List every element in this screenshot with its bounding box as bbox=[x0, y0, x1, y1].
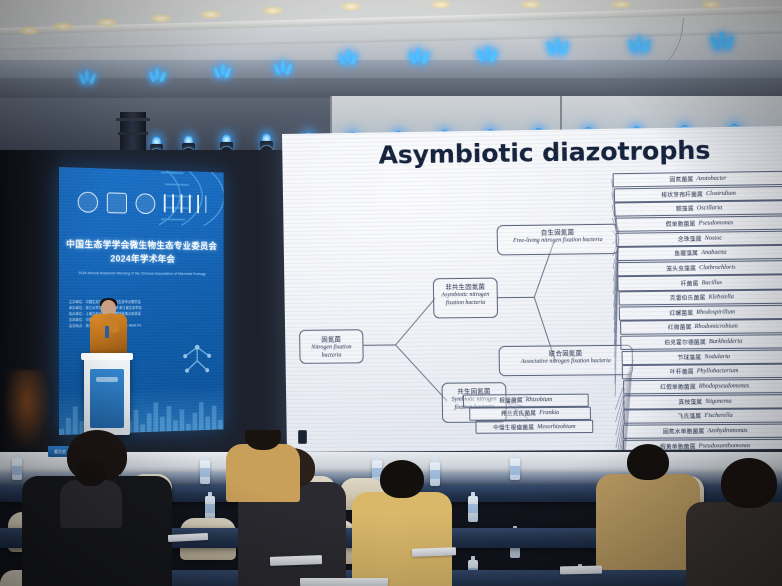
lectern-top bbox=[81, 353, 133, 360]
presentation-screen: Asymbiotic diazotrophs 固氮菌 Nitrogen fixa… bbox=[282, 126, 782, 452]
slide-title: Asymbiotic diazotrophs bbox=[378, 135, 710, 169]
genus-item: 红螺菌属Rhodospirillum bbox=[619, 305, 782, 321]
genus-cn: 伯克霍尔德菌属 bbox=[664, 338, 706, 346]
genus-cn: 弗兰克氏菌属 bbox=[501, 410, 536, 418]
genus-latin: Pseudomonas bbox=[699, 220, 734, 227]
ceiling-downlight bbox=[610, 0, 632, 9]
logo-university-wordmark bbox=[164, 194, 207, 213]
skyline-building bbox=[167, 406, 172, 431]
ceiling-downlight bbox=[520, 0, 542, 9]
ceiling-downlight bbox=[52, 22, 74, 31]
banner-subtitle-english: 2024 Annual Academic Meeting of the Chin… bbox=[65, 271, 218, 277]
genus-cn: 固氮菌属 bbox=[670, 175, 694, 183]
genus-cn: 红假单胞菌属 bbox=[660, 383, 696, 391]
genus-latin: Nodularia bbox=[704, 354, 730, 360]
handout-paper bbox=[560, 566, 602, 575]
genus-cn: 假单胞菌属 bbox=[666, 220, 696, 228]
genus-item: 梭状芽孢杆菌属Clostridium bbox=[614, 186, 782, 203]
genus-cn: 飞氏藻属 bbox=[678, 412, 702, 420]
lectern-podium bbox=[84, 353, 130, 435]
water-bottle bbox=[510, 458, 520, 480]
genus-list: 固氮菌属Azotobacter梭状芽孢杆菌属Clostridium颤藻属Osci… bbox=[612, 171, 782, 452]
molecule-graphic bbox=[176, 341, 218, 380]
genus-item: 红微菌属Rhodomicrobium bbox=[620, 319, 782, 335]
genus-item: 杆菌属Bacillus bbox=[618, 275, 782, 291]
genus-item: 红假单胞菌属Rhodopseudomonas bbox=[623, 379, 782, 395]
genus-item: 真枝藻属Stigonema bbox=[623, 394, 782, 409]
genus-latin: Rhodomicrobium bbox=[695, 324, 738, 330]
handout-paper bbox=[412, 547, 456, 557]
genus-item: 叶杆菌属Phyllobacterium bbox=[622, 364, 782, 380]
genus-cn: 克雷伯氏菌属 bbox=[670, 294, 706, 302]
genus-latin: Klebsiella bbox=[708, 294, 733, 300]
genus-item: 飞氏藻属Fischerella bbox=[623, 409, 782, 424]
node-asymbiotic-en: Asymbiotic nitrogen fixation bacteria bbox=[439, 292, 492, 308]
genus-latin: Clostridium bbox=[706, 190, 736, 196]
skyline-building bbox=[180, 409, 185, 430]
ceiling-downlight bbox=[150, 14, 172, 23]
smartphone[interactable] bbox=[298, 430, 307, 444]
genus-item: 笼头虫藻属Clathrochloris bbox=[617, 260, 782, 276]
logo-emblem-1 bbox=[78, 192, 98, 213]
person-head bbox=[721, 458, 777, 508]
person-torso bbox=[60, 480, 122, 528]
genus-item: 克雷伯氏菌属Klebsiella bbox=[618, 290, 782, 306]
genus-item: 伯克霍尔德菌属Burkholderia bbox=[620, 334, 782, 350]
person-head bbox=[76, 460, 106, 486]
genus-item: 鱼腥藻属Anabaena bbox=[616, 245, 782, 261]
node-free-living: 自生固氮菌 Free-living nitrogen fixation bact… bbox=[497, 224, 619, 256]
genus-latin: Frankia bbox=[539, 410, 559, 416]
genus-item: 念珠藻属Nostoc bbox=[616, 230, 782, 246]
person-torso bbox=[226, 444, 300, 502]
banner-title: 中国生态学学会微生物生态专业委员会 2024年学术年会 bbox=[65, 237, 218, 266]
genus-item: 颤藻属Oscillaria bbox=[614, 201, 782, 217]
genus-latin: Clathrochloris bbox=[699, 265, 736, 272]
person-head bbox=[380, 460, 424, 498]
genus-cn: 梭状芽孢杆菌属 bbox=[661, 190, 703, 199]
dna-helix-graphic bbox=[150, 167, 224, 249]
symbiotic-genus-item: 弗兰克氏菌属Frankia bbox=[469, 407, 591, 421]
water-bottle bbox=[12, 458, 22, 480]
genus-latin: Burkholderia bbox=[709, 339, 742, 345]
skyline-building bbox=[205, 416, 210, 430]
skyline-building bbox=[212, 406, 217, 430]
person-torso bbox=[596, 474, 700, 570]
handout-paper bbox=[270, 555, 322, 566]
handout-paper bbox=[300, 578, 388, 586]
ceiling-downlight bbox=[340, 2, 362, 11]
organization-logos bbox=[59, 191, 224, 216]
genus-cn: 根瘤菌属 bbox=[499, 396, 523, 404]
genus-latin: Anabaena bbox=[701, 250, 726, 256]
genus-latin: Nostoc bbox=[705, 235, 722, 241]
bottle-label bbox=[430, 470, 440, 479]
genus-cn: 杆菌属 bbox=[681, 279, 699, 287]
genus-latin: Fischerella bbox=[704, 413, 732, 419]
node-root-en: Nitrogen fixation bacteria bbox=[305, 344, 357, 360]
ceiling-downlight bbox=[700, 0, 722, 9]
genus-cn: 念珠藻属 bbox=[678, 234, 702, 242]
genus-latin: Phyllobacterium bbox=[697, 368, 739, 374]
node-root: 固氮菌 Nitrogen fixation bacteria bbox=[299, 329, 364, 364]
genus-cn: 红微菌属 bbox=[668, 323, 692, 331]
skyline-building bbox=[153, 402, 158, 431]
symbiotic-genus-list: 根瘤菌属Rhizobium弗兰克氏菌属Frankia中慢生根瘤菌属Mesorhi… bbox=[463, 394, 593, 435]
skyline-building bbox=[193, 413, 198, 431]
logo-emblem-2 bbox=[107, 192, 127, 213]
genus-latin: Azotobacter bbox=[696, 176, 726, 183]
genus-cn: 笼头虫藻属 bbox=[666, 264, 696, 272]
genus-item: 节球藻属Nodularia bbox=[621, 349, 782, 365]
node-associative: 联合固氮菌 Associative nitrogen fixation bact… bbox=[499, 345, 634, 376]
person-head bbox=[627, 444, 669, 480]
ceiling-downlight bbox=[200, 10, 222, 19]
speaker-presenter bbox=[88, 300, 128, 358]
genus-latin: Rhodospirillum bbox=[696, 309, 735, 315]
bottle-label bbox=[205, 504, 215, 513]
genus-cn: 叶杆菌属 bbox=[670, 368, 694, 376]
genus-cn: 颤藻属 bbox=[676, 205, 694, 213]
genus-item: 固氮菌属Azotobacter bbox=[613, 171, 782, 188]
bottle-label bbox=[200, 468, 210, 477]
bottle-label bbox=[12, 466, 22, 475]
ceiling-downlight bbox=[262, 6, 284, 15]
genus-item: 假单胞菌属Pseudomonas bbox=[615, 215, 782, 231]
logo-emblem-3 bbox=[136, 193, 156, 214]
genus-latin: Bacillus bbox=[702, 280, 723, 286]
genus-cn: 真枝藻属 bbox=[678, 397, 702, 405]
banner-title-line2: 2024年学术年会 bbox=[110, 254, 175, 264]
skyline-building bbox=[199, 402, 204, 430]
ceiling-downlight bbox=[430, 0, 452, 9]
bottle-label bbox=[510, 466, 520, 475]
lectern-front-panel bbox=[90, 369, 124, 428]
genus-latin: Rhodopseudomonas bbox=[699, 383, 749, 389]
genus-cn: 鱼腥藻属 bbox=[674, 249, 698, 257]
node-associative-en: Associative nitrogen fixation bacteria bbox=[505, 358, 627, 367]
person-torso bbox=[686, 502, 782, 586]
water-bottle bbox=[200, 460, 210, 484]
ceiling-downlight bbox=[96, 18, 118, 27]
ceiling-downlight bbox=[18, 26, 40, 35]
genus-cn: 红螺菌属 bbox=[669, 309, 693, 317]
genus-latin: Stigonema bbox=[705, 398, 731, 404]
node-free-living-en: Free-living nitrogen fixation bacteria bbox=[503, 237, 613, 246]
genus-latin: Rhizobium bbox=[526, 397, 553, 403]
symbiotic-genus-item: 根瘤菌属Rhizobium bbox=[463, 394, 589, 408]
conference-hall-photo: 中国生态学学会微生物生态专业委员会 2024年学术年会 2024 Annual … bbox=[0, 0, 782, 586]
bottle-label bbox=[468, 504, 478, 513]
skyline-building bbox=[218, 420, 223, 430]
water-bottle bbox=[430, 462, 440, 486]
genus-cn: 节球藻属 bbox=[677, 353, 701, 361]
person-torso bbox=[352, 492, 452, 586]
water-bottle bbox=[468, 496, 478, 522]
speaker-lanyard bbox=[105, 326, 109, 338]
audience-area: 委员会 bbox=[0, 430, 782, 586]
genus-latin: Oscillaria bbox=[697, 205, 722, 211]
banner-title-line1: 中国生态学学会微生物生态专业委员会 bbox=[66, 239, 217, 251]
node-asymbiotic: 非共生固氮菌 Asymbiotic nitrogen fixation bact… bbox=[433, 278, 498, 319]
